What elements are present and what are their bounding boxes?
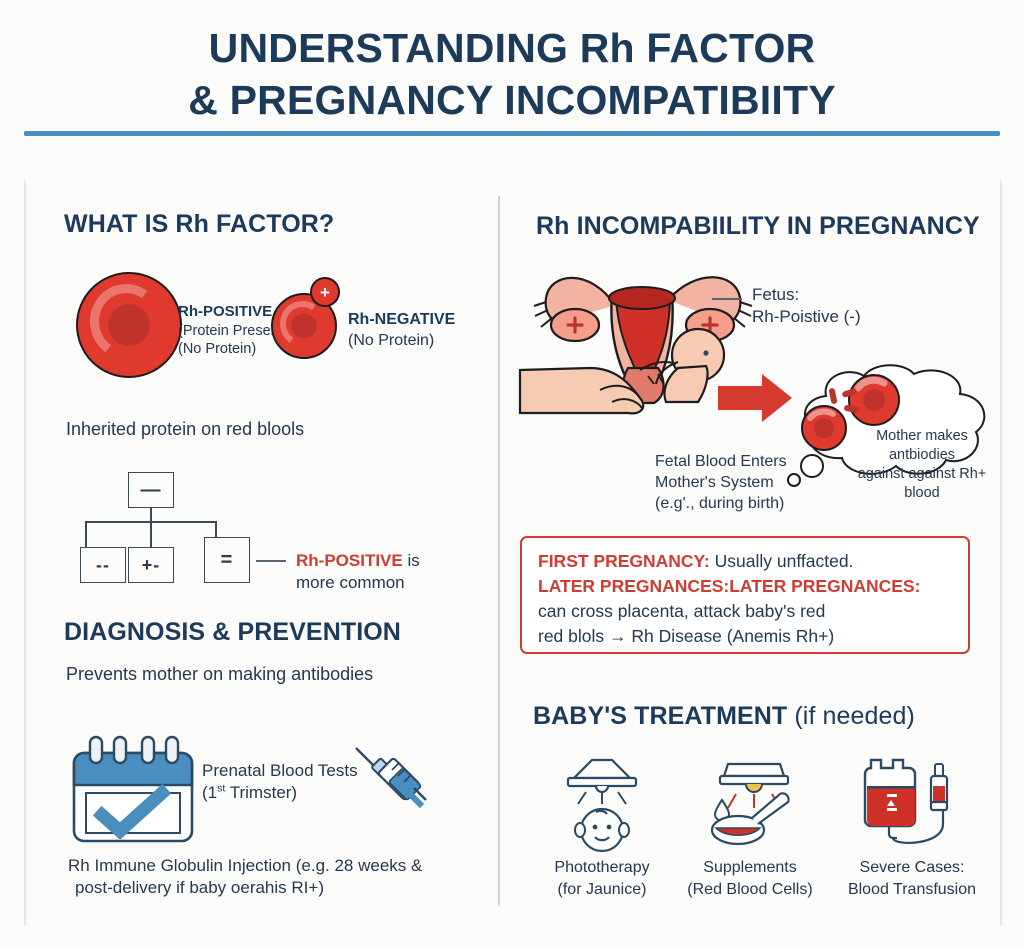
pedigree-child-box-1: -- xyxy=(80,547,126,583)
pedigree-leader-dash xyxy=(256,560,286,562)
callout-line-3: can cross placenta, attack baby's red xyxy=(538,599,952,624)
heading-babys-treatment: BABY'S TREATMENT (if needed) xyxy=(533,702,915,731)
pedigree-child-box-2: +- xyxy=(128,547,174,583)
fetal-blood-note: Fetal Blood Enters Mother's System (e.g'… xyxy=(655,451,855,514)
treatment-label-transfusion: Severe Cases: Blood Transfusion xyxy=(832,857,992,900)
treatment-label-supplements-line-1: Supplements xyxy=(676,857,824,879)
prenatal-test-line-2: (1st Trimster) xyxy=(202,782,432,804)
fetal-blood-note-line-1: Fetal Blood Enters xyxy=(655,451,855,472)
pedigree-parent-box: — xyxy=(128,472,174,508)
pregnancy-warning-callout: FIRST PREGNANCY: Usually unffacted. LATE… xyxy=(520,536,970,654)
callout-line-1: FIRST PREGNANCY: Usually unffacted. xyxy=(538,549,952,574)
plus-badge-icon: + xyxy=(310,277,340,307)
pedigree-branch-left xyxy=(85,521,87,549)
right-edge-border xyxy=(1000,180,1002,925)
treatment-label-supplements-line-2: (Red Blood Cells) xyxy=(676,879,824,901)
rh-negative-label-group: Rh-NEGATIVE (No Protein) xyxy=(348,309,508,351)
callout-line-2: LATER PREGNANCES:LATER PREGNANCES: xyxy=(538,574,952,599)
callout-first-pregnancy-label: FIRST PREGNANCY: xyxy=(538,551,710,571)
heading-diagnosis-prevention: DIAGNOSIS & PREVENTION xyxy=(64,618,401,647)
treatment-label-transfusion-line-1: Severe Cases: xyxy=(832,857,992,879)
fetus-label: Fetus: Rh-Poistive (-) xyxy=(752,284,942,329)
title-line-1: UNDERSTANDING Rh FACTOR xyxy=(0,22,1024,74)
infographic-page: UNDERSTANDING Rh FACTOR & PREGNANCY INCO… xyxy=(0,0,1024,947)
treatment-label-phototherapy-line-1: Phototherapy xyxy=(532,857,672,879)
inherited-protein-note: Inherited protein on red blools xyxy=(66,417,304,441)
thought-bubble-text: Mother makes antbiodies against against … xyxy=(842,427,1002,502)
phototherapy-lamp-icon xyxy=(556,752,648,848)
treatment-label-transfusion-line-2: Blood Transfusion xyxy=(832,879,992,901)
thought-bubble-line-2: against against Rh+ xyxy=(842,465,1002,484)
rh-negative-label: Rh-NEGATIVE xyxy=(348,309,508,330)
fetus-label-line-2: Rh-Poistive (-) xyxy=(752,306,942,328)
rh-positive-blood-cell-icon xyxy=(76,272,182,378)
thought-bubble-line-1: Mother makes antbiodies xyxy=(842,427,1002,465)
fetal-blood-note-line-3: (e.g'., during birth) xyxy=(655,493,855,514)
prenatal-test-label: Prenatal Blood Tests (1st Trimster) xyxy=(202,760,432,805)
column-divider xyxy=(498,196,500,906)
heading-rh-incompatibility: Rh INCOMPABIILITY IN PREGNANCY xyxy=(536,212,980,241)
prenatal-test-line-1: Prenatal Blood Tests xyxy=(202,760,432,782)
treatment-heading-light: (if needed) xyxy=(787,702,915,730)
title-line-2: & PREGNANCY INCOMPATIBIITY xyxy=(0,74,1024,126)
prevention-subtitle: Prevents mother on making antibodies xyxy=(66,662,373,686)
pedigree-child-box-3: = xyxy=(204,537,250,583)
callout-later-pregnancies-label-b: LATER PREGNANCES: xyxy=(729,576,920,596)
fetal-blood-note-line-2: Mother's System xyxy=(655,472,855,493)
page-title: UNDERSTANDING Rh FACTOR & PREGNANCY INCO… xyxy=(0,22,1024,127)
treatment-label-phototherapy: Phototherapy (for Jaunice) xyxy=(532,857,672,900)
supplement-spoon-icon xyxy=(702,752,798,848)
rh-positive-common-line2: more common xyxy=(296,572,486,594)
heading-what-is-rh-factor: WHAT IS Rh FACTOR? xyxy=(64,210,334,239)
treatment-label-supplements: Supplements (Red Blood Cells) xyxy=(676,857,824,900)
callout-line-4: red blols → Rh Disease (Anemis Rh+) xyxy=(538,624,952,649)
treatment-heading-bold: BABY'S TREATMENT xyxy=(533,702,787,730)
title-divider-rule xyxy=(24,131,1000,136)
rh-positive-common-note: Rh-POSITIVE is more common xyxy=(296,550,486,595)
rh-immune-globulin-line-1: Rh Immune Globulin Injection (e.g. 28 we… xyxy=(68,855,468,877)
left-edge-border xyxy=(24,180,26,925)
calendar-check-icon xyxy=(70,735,196,845)
red-arrow-icon xyxy=(718,372,794,424)
callout-later-pregnancies-label-a: LATER PREGNANCES: xyxy=(538,576,729,596)
rh-immune-globulin-note: Rh Immune Globulin Injection (e.g. 28 we… xyxy=(68,855,468,900)
rh-negative-sub-1: (No Protein) xyxy=(348,330,508,351)
pedigree-stem-vertical xyxy=(150,508,152,549)
thought-bubble-line-3: blood xyxy=(842,484,1002,503)
rh-immune-globulin-line-2: post-delivery if baby oerahis RI+) xyxy=(68,877,468,899)
callout-first-pregnancy-rest: Usually unffacted. xyxy=(710,551,854,571)
blood-transfusion-bag-icon xyxy=(857,748,963,848)
fetus-label-line-1: Fetus: xyxy=(752,284,942,306)
pedigree-crossbar xyxy=(85,521,217,523)
rh-positive-common-rest: is xyxy=(403,551,420,570)
rh-positive-common-highlight: Rh-POSITIVE xyxy=(296,551,403,570)
fetus-leader-dash xyxy=(712,298,742,300)
treatment-label-phototherapy-line-2: (for Jaunice) xyxy=(532,879,672,901)
